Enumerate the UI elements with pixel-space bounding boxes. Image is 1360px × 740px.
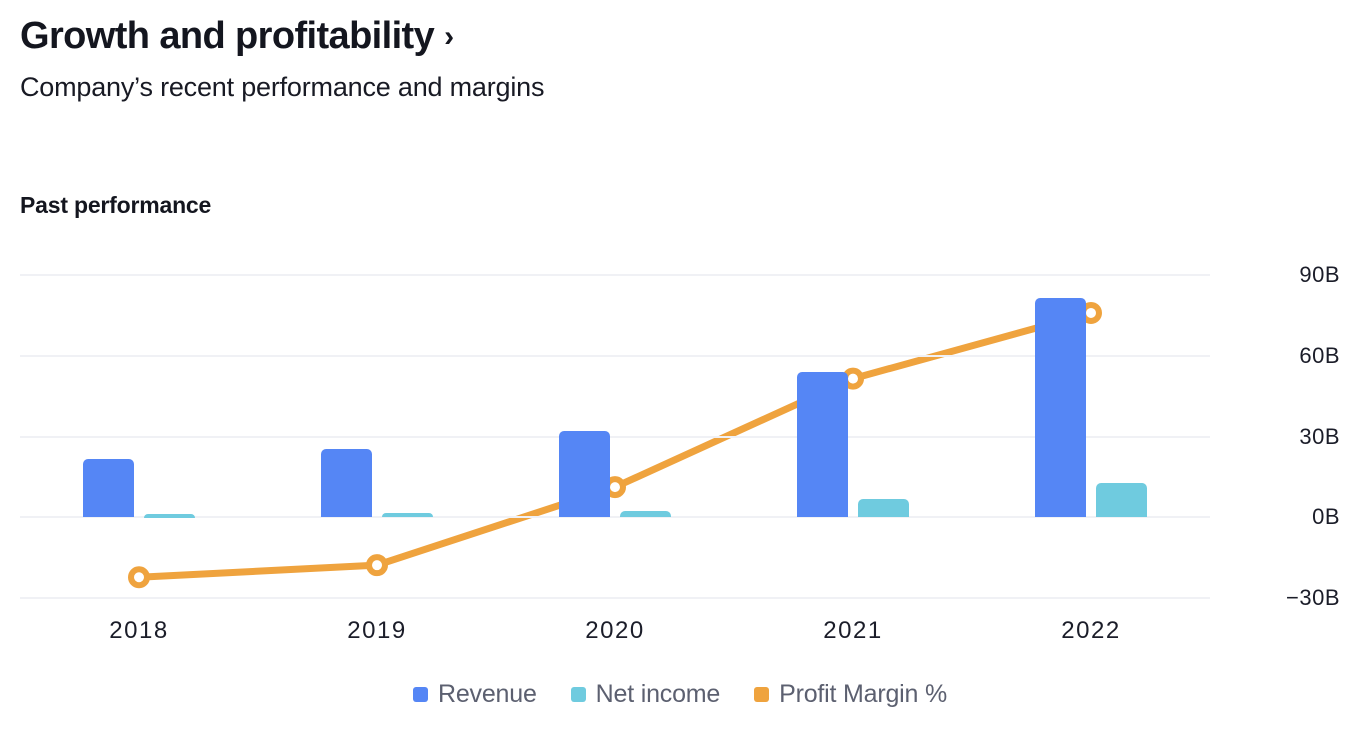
gridline [20,436,1210,438]
legend-label: Net income [596,680,720,709]
legend-item-net-income[interactable]: Net income [571,680,720,709]
bar-net-income-2022[interactable] [1096,483,1147,518]
y-axis-tick-label: 0B [1312,504,1340,530]
page-subtitle: Company’s recent performance and margins [20,72,1220,103]
bar-revenue-2019[interactable] [321,449,372,517]
chart-legend: RevenueNet incomeProfit Margin % [0,680,1360,709]
page-header: Growth and profitability › Company’s rec… [20,14,1220,103]
bar-net-income-2020[interactable] [620,511,671,517]
bar-net-income-2019[interactable] [382,513,433,517]
page-title: Growth and profitability [20,14,434,60]
bar-revenue-2018[interactable] [83,459,134,518]
gridline [20,274,1210,276]
line-marker-2019[interactable] [369,557,385,573]
bar-net-income-2021[interactable] [858,499,909,517]
title-row[interactable]: Growth and profitability › [20,14,1220,60]
y-axis-tick-label: −30B [1286,585,1340,611]
chart-page: Growth and profitability › Company’s rec… [0,0,1360,740]
x-axis-tick-label: 2022 [1061,617,1120,645]
profit-margin-line-layer [20,255,1210,610]
bar-revenue-2022[interactable] [1035,298,1086,517]
y-axis-tick-label: 90B [1299,262,1340,288]
y-axis-tick-label: 30B [1299,424,1340,450]
chevron-right-icon[interactable]: › [444,22,454,52]
legend-swatch-icon [754,687,769,702]
bar-revenue-2021[interactable] [797,372,848,517]
legend-swatch-icon [571,687,586,702]
profit-margin-line [139,313,1091,577]
x-axis-tick-label: 2019 [347,617,406,645]
legend-item-revenue[interactable]: Revenue [413,680,537,709]
x-axis-tick-label: 2018 [109,617,168,645]
legend-label: Profit Margin % [779,680,947,709]
growth-profitability-chart: 90B60B30B0B−30B20182019202020212022 Reve… [0,255,1360,675]
chart-plot-area: 90B60B30B0B−30B20182019202020212022 [20,255,1210,610]
legend-label: Revenue [438,680,537,709]
section-title: Past performance [20,192,211,219]
x-axis-tick-label: 2021 [823,617,882,645]
line-marker-2018[interactable] [131,569,147,585]
bar-net-income-2018[interactable] [144,514,195,518]
bar-revenue-2020[interactable] [559,431,610,517]
legend-swatch-icon [413,687,428,702]
gridline [20,516,1210,518]
gridline [20,597,1210,599]
gridline [20,355,1210,357]
x-axis-tick-label: 2020 [585,617,644,645]
y-axis-tick-label: 60B [1299,343,1340,369]
legend-item-profit-margin[interactable]: Profit Margin % [754,680,947,709]
